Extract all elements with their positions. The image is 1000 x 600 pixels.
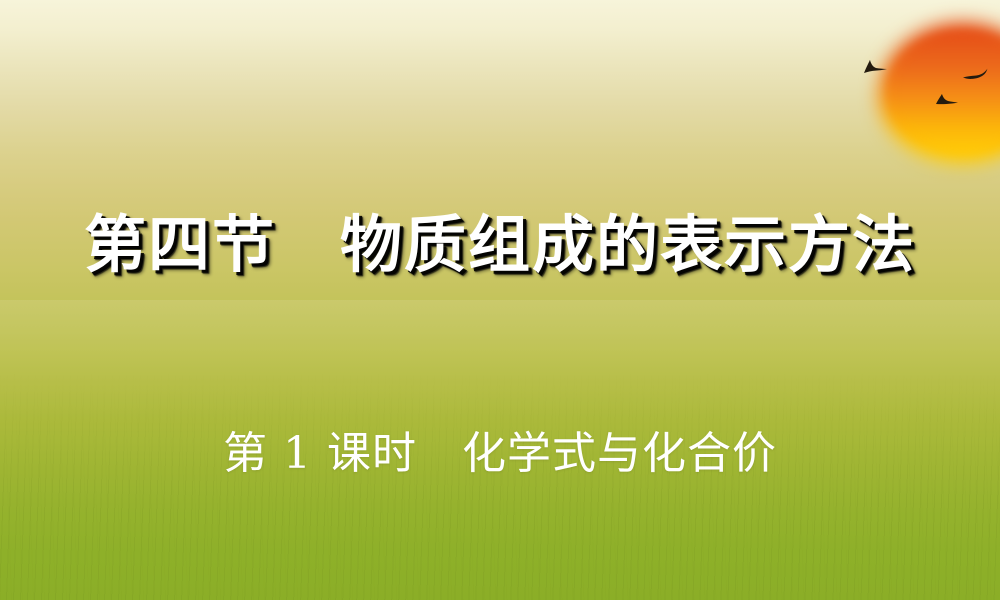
presentation-slide: 第四节 物质组成的表示方法 第 1 课时 化学式与化合价 [0, 0, 1000, 600]
slide-title-container: 第四节 物质组成的表示方法 [0, 212, 1000, 279]
slide-title: 第四节 物质组成的表示方法 [84, 212, 916, 279]
slide-subtitle-container: 第 1 课时 化学式与化合价 [0, 430, 1000, 478]
slide-background-gradient [0, 0, 1000, 600]
slide-subtitle: 第 1 课时 化学式与化合价 [223, 430, 777, 478]
